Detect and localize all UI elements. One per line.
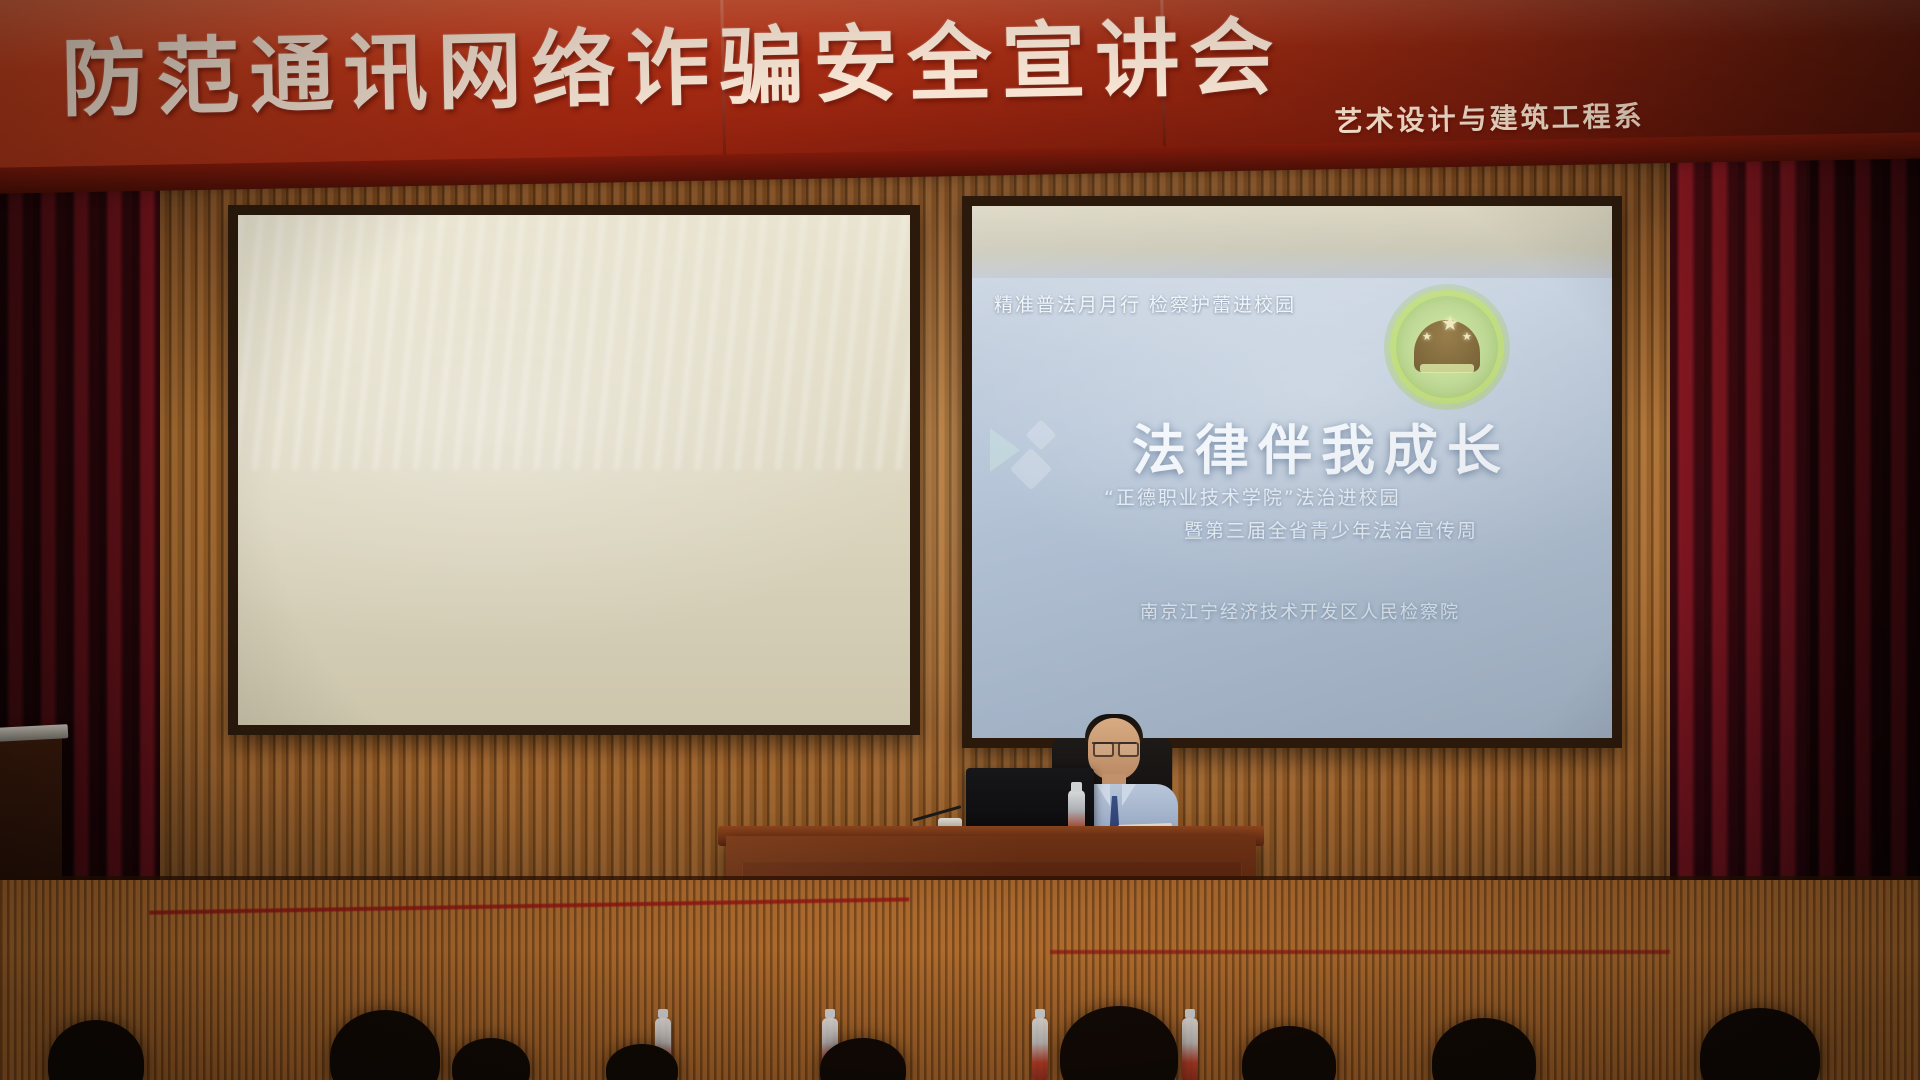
presenter-collar-right (1122, 784, 1136, 806)
desk-water-bottle-cap (1071, 782, 1082, 792)
presenter-collar-left (1096, 784, 1110, 806)
presenter-glasses-left-lens (1093, 742, 1114, 757)
audience-bottle-cap (658, 1009, 668, 1018)
banner-subtitle: 艺术设计与建筑工程系 (1334, 95, 1645, 141)
presentation-slide: ★ ★ ★ 精准普法月月行 检察护蕾进校园 法律伴我成长 “正德职业技术学院”法… (972, 206, 1612, 738)
audience-bottle-cap (825, 1009, 835, 1018)
screen-left-light-streaks (238, 215, 910, 470)
audience-bottle (1032, 1018, 1048, 1080)
projection-screen-right: ★ ★ ★ 精准普法月月行 检察护蕾进校园 法律伴我成长 “正德职业技术学院”法… (962, 196, 1622, 748)
banner-title: 防范通讯网络诈骗安全宣讲会 (60, 0, 1284, 134)
audience-bottle-cap (1035, 1009, 1045, 1018)
presenter-glasses-right-lens (1118, 742, 1139, 757)
auditorium-scene: ★ ★ ★ 精准普法月月行 检察护蕾进校园 法律伴我成长 “正德职业技术学院”法… (0, 0, 1920, 1080)
slide-glare-overlay (972, 206, 1612, 738)
audience-bottle (1182, 1018, 1198, 1080)
audience-bottle-cap (1185, 1009, 1195, 1018)
projection-screen-left (228, 205, 920, 735)
